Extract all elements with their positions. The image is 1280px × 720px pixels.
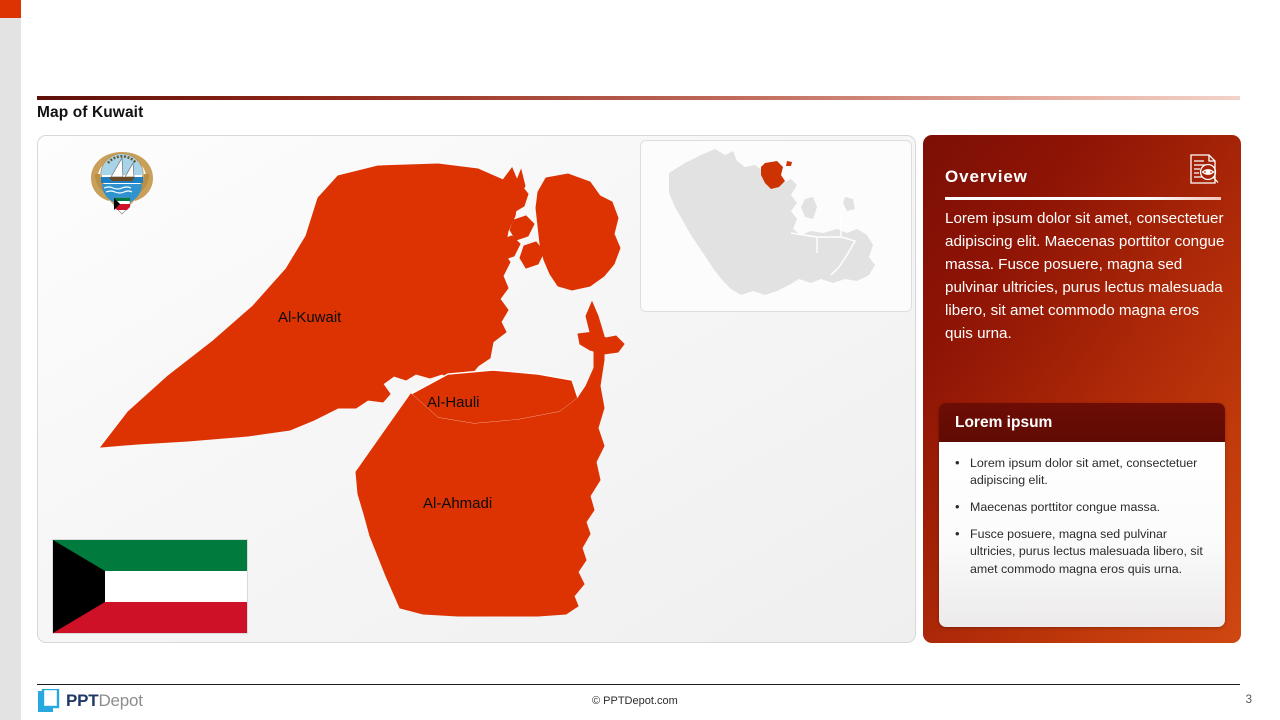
map-region-faylakah-island [578, 332, 624, 354]
list-item: Lorem ipsum dolor sit amet, consectetuer… [953, 455, 1211, 489]
overview-underline [945, 197, 1221, 200]
card-title: Lorem ipsum [955, 414, 1052, 432]
card-header: Lorem ipsum [939, 403, 1225, 442]
left-decorative-rail [0, 0, 21, 720]
kuwait-emblem [87, 144, 157, 225]
map-label-al-hauli: Al-Hauli [427, 394, 480, 411]
copyright-text: © PPTDepot.com [592, 695, 678, 707]
map-label-al-kuwait: Al-Kuwait [278, 309, 341, 326]
map-label-al-ahmadi: Al-Ahmadi [423, 495, 492, 512]
overview-body-text: Lorem ipsum dolor sit amet, consectetuer… [945, 207, 1227, 346]
card-body: Lorem ipsum dolor sit amet, consectetuer… [939, 442, 1225, 627]
locator-inset-map [640, 140, 912, 312]
logo-text-ppt: PPT [66, 691, 98, 710]
header-gradient-rule [37, 96, 1240, 100]
logo-text: PPTDepot [66, 691, 143, 711]
document-review-icon [1187, 153, 1221, 192]
overview-heading: Overview [945, 167, 1028, 187]
page-number: 3 [1246, 694, 1252, 706]
lorem-ipsum-card: Lorem ipsum Lorem ipsum dolor sit amet, … [939, 403, 1225, 627]
footer-divider [37, 684, 1240, 685]
kuwait-flag [52, 539, 248, 634]
inset-highlight-kuwait-island [786, 161, 792, 166]
rail-accent-block [0, 0, 21, 18]
overview-panel: Overview Lorem ipsum dolor sit amet, con… [923, 135, 1241, 643]
card-bullet-list: Lorem ipsum dolor sit amet, consectetuer… [953, 455, 1211, 578]
map-region-bubiyan-island [496, 174, 620, 290]
logo-mark-icon [38, 689, 60, 713]
page-title: Map of Kuwait [37, 104, 143, 122]
pptdepot-logo[interactable]: PPTDepot [38, 689, 143, 713]
logo-text-depot: Depot [98, 691, 142, 710]
list-item: Maecenas porttitor congue massa. [953, 499, 1211, 516]
list-item: Fusce posuere, magna sed pulvinar ultric… [953, 526, 1211, 577]
map-panel: Al-Kuwait Al-Hauli Al-Ahmadi [37, 135, 916, 643]
